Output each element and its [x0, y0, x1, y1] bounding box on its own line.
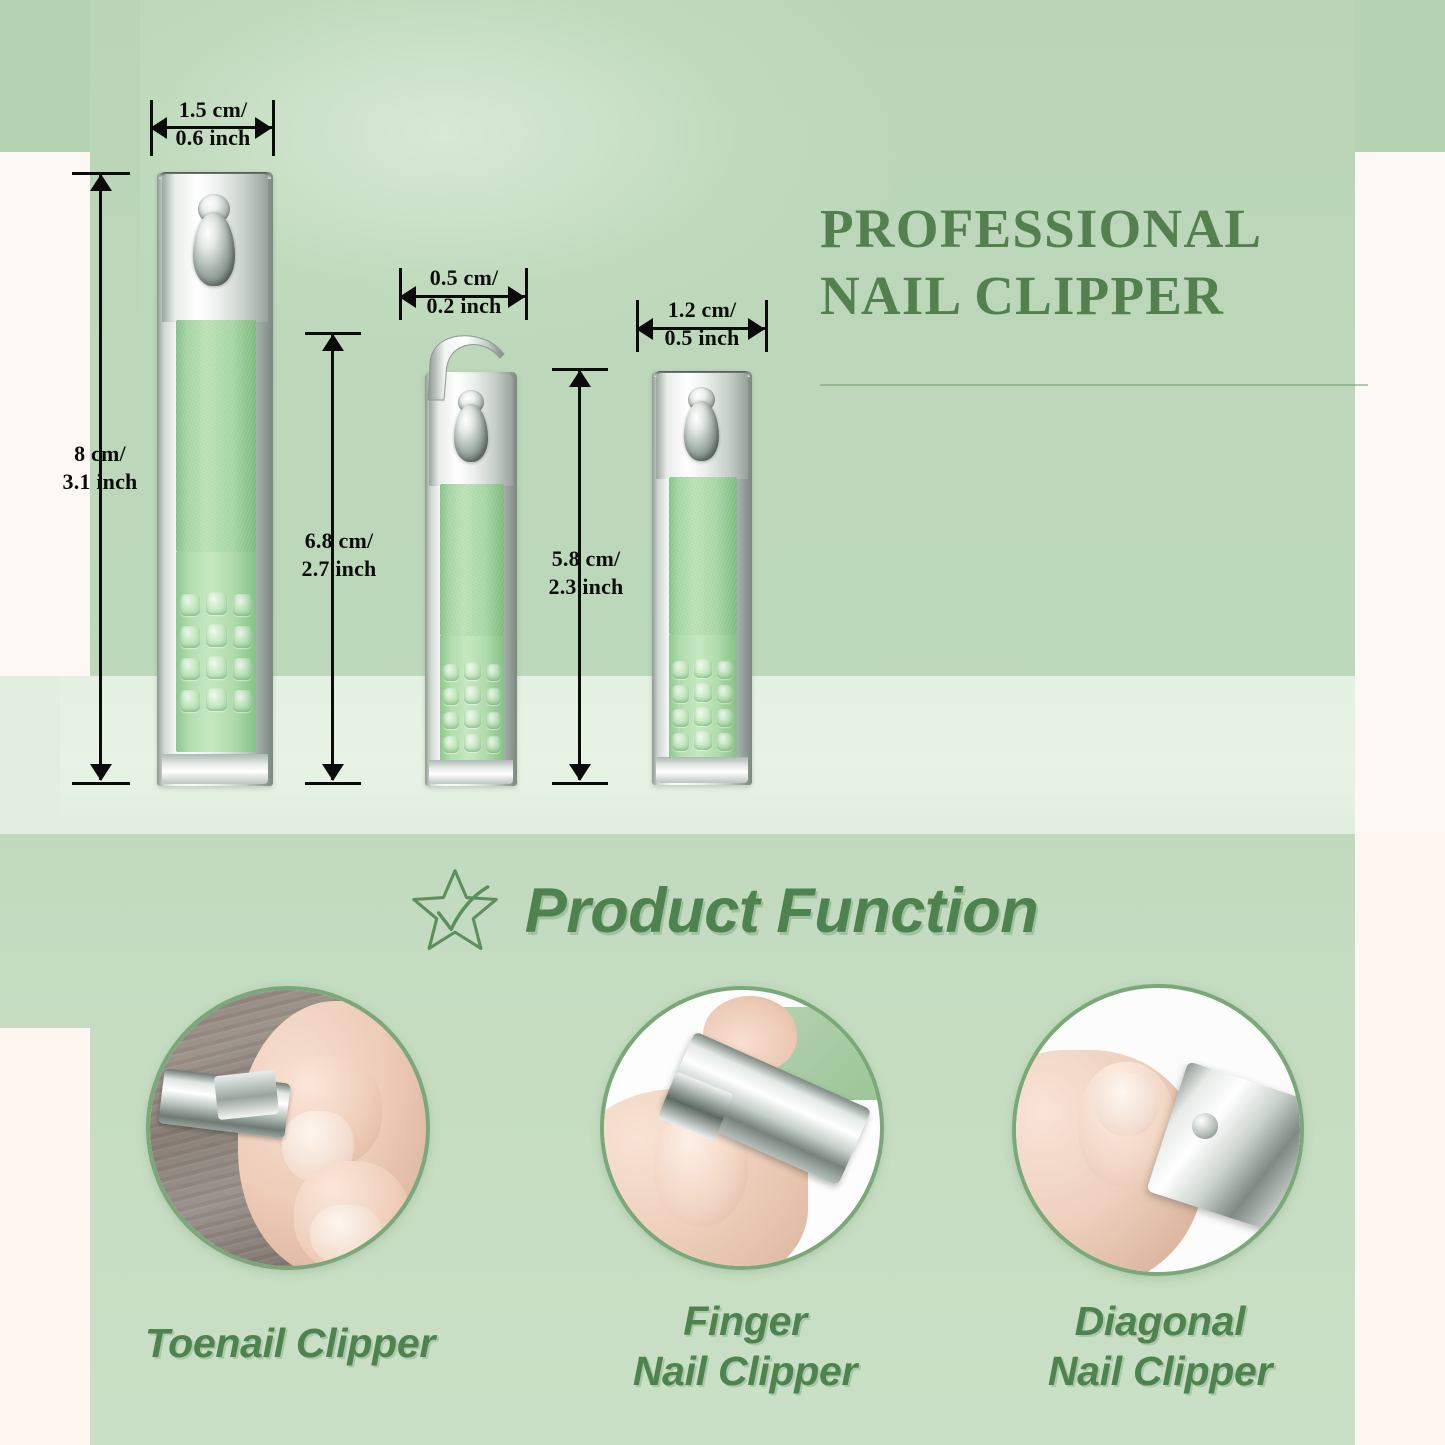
infographic-canvas: 1.5 cm/ 0.6 inch 8 cm/ 3.1 inch 0.5 cm/ …	[0, 0, 1445, 1445]
product-function-title: Product Function	[525, 875, 1038, 947]
photo-content	[150, 990, 426, 1266]
diagonal-clipper-render	[425, 372, 517, 786]
background-cream-lower-left	[0, 1028, 90, 1445]
toenail-clipper-photo	[146, 986, 430, 1270]
dim-large-width-cm: 1.5 cm/	[179, 97, 248, 122]
dim-small-height-inch: 2.3 inch	[534, 573, 638, 601]
hero-title-line1: PROFESSIONAL	[820, 198, 1262, 259]
caption-line-2: Nail Clipper	[633, 1348, 857, 1394]
caption-finger-nail-clipper: Finger Nail Clipper	[560, 1296, 930, 1396]
clipper-pin	[1192, 1113, 1218, 1139]
caption-toenail-clipper: Toenail Clipper	[100, 1318, 480, 1368]
finger-nail-clipper-photo	[600, 986, 884, 1270]
hero-title-line2: NAIL CLIPPER	[820, 265, 1224, 326]
photo-content	[604, 990, 880, 1266]
clipper-grip-upper	[440, 484, 504, 636]
dim-mid-height-cm: 6.8 cm/	[305, 528, 374, 553]
hero-divider	[820, 384, 1368, 386]
caption-diagonal-nail-clipper: Diagonal Nail Clipper	[960, 1296, 1360, 1396]
dim-mid-height-inch: 2.7 inch	[287, 555, 391, 583]
diagonal-clipper-blade-tip	[418, 332, 518, 402]
clipper-foot	[162, 754, 268, 784]
dim-mid-width-cm: 0.5 cm/	[430, 265, 499, 290]
dim-large-width-inch: 0.6 inch	[148, 124, 278, 152]
clipper-foot	[656, 757, 748, 783]
hero-heading: PROFESSIONAL NAIL CLIPPER	[820, 196, 1376, 329]
toenail-clipper-render	[157, 172, 273, 786]
clipper-grip-upper	[176, 320, 256, 552]
clipper-foot	[429, 760, 513, 784]
clipper-grip-upper	[669, 477, 737, 635]
clipper-grip-textured	[669, 635, 737, 763]
clipper-grip-textured	[440, 636, 504, 766]
dim-large-height-inch: 3.1 inch	[48, 468, 152, 496]
caption-line-1: Finger	[683, 1298, 806, 1344]
dim-small-width-cm: 1.2 cm/	[668, 297, 737, 322]
diagonal-nail-clipper-photo	[1012, 984, 1304, 1276]
dim-small-width-inch: 0.5 inch	[636, 324, 768, 352]
dim-mid-width-inch: 0.2 inch	[398, 292, 530, 320]
caption-line-1: Diagonal	[1075, 1298, 1246, 1344]
clipper-grip-textured	[176, 552, 256, 752]
caption-line-1: Toenail Clipper	[145, 1320, 435, 1366]
dim-small-height-cm: 5.8 cm/	[552, 546, 621, 571]
product-function-heading-row: Product Function	[0, 856, 1445, 966]
finger-clipper-render	[652, 371, 752, 785]
photo-content	[1016, 988, 1300, 1272]
star-check-icon	[407, 863, 503, 959]
caption-line-2: Nail Clipper	[1048, 1348, 1272, 1394]
clipper-jaw	[214, 1070, 279, 1120]
thumbnail	[1096, 1073, 1158, 1135]
fingernail	[310, 1205, 382, 1266]
dim-large-height-cm: 8 cm/	[74, 441, 126, 466]
